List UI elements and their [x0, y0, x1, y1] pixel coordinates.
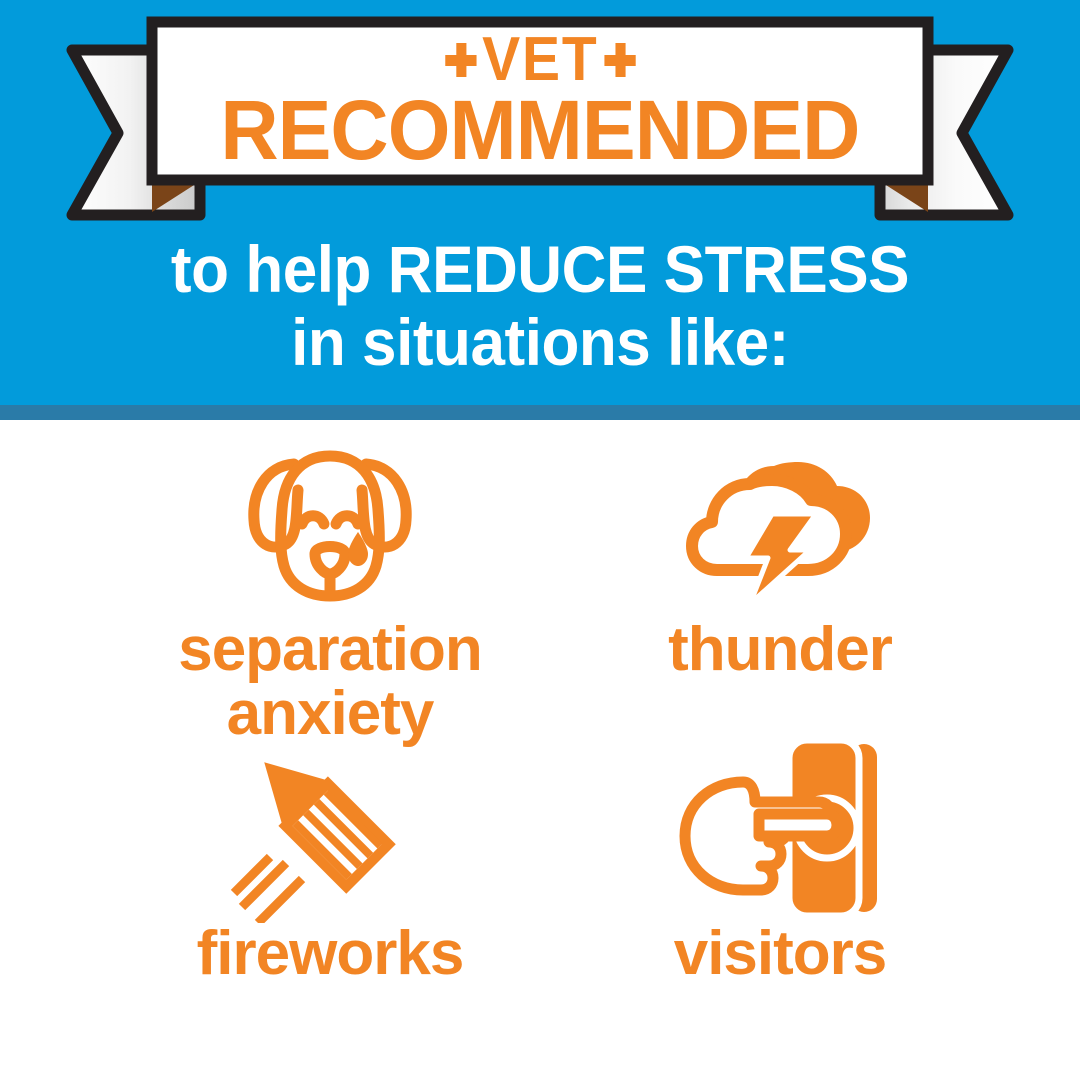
ribbon-main-panel	[152, 22, 928, 180]
label-line: thunder	[668, 618, 892, 682]
vet-recommended-ribbon	[0, 0, 1080, 230]
situation-item-visitors: visitors	[560, 744, 1000, 986]
label-line: fireworks	[197, 922, 464, 986]
subtitle-line-1: to help REDUCE STRESS	[32, 236, 1047, 303]
situation-label-visitors: visitors	[674, 922, 887, 986]
speed-lines	[234, 857, 302, 923]
index-finger-shape	[759, 814, 837, 836]
situation-item-thunder: thunder	[560, 440, 1000, 682]
situation-item-separation-anxiety: separation anxiety	[110, 440, 550, 747]
label-line: separation	[178, 618, 482, 682]
subtitle-line-2: in situations like:	[32, 309, 1047, 376]
thunder-cloud-icon	[676, 440, 884, 608]
situation-label-fireworks: fireworks	[197, 922, 464, 986]
situations-grid: separation anxiety thunder	[0, 424, 1080, 1080]
sad-dog-face-icon	[230, 440, 430, 608]
poster-root: VET RECOMMENDED to help REDUCE STRESS in…	[0, 0, 1080, 1080]
situation-label-thunder: thunder	[668, 618, 892, 682]
situation-item-fireworks: fireworks	[110, 744, 550, 986]
firework-rocket-icon	[230, 744, 430, 912]
subtitle-block: to help REDUCE STRESS in situations like…	[0, 236, 1080, 377]
label-line: visitors	[674, 922, 887, 986]
header-dark-blue-stripe	[0, 405, 1080, 420]
doorbell-hand-icon	[669, 744, 891, 912]
situation-label-separation-anxiety: separation anxiety	[178, 618, 482, 747]
